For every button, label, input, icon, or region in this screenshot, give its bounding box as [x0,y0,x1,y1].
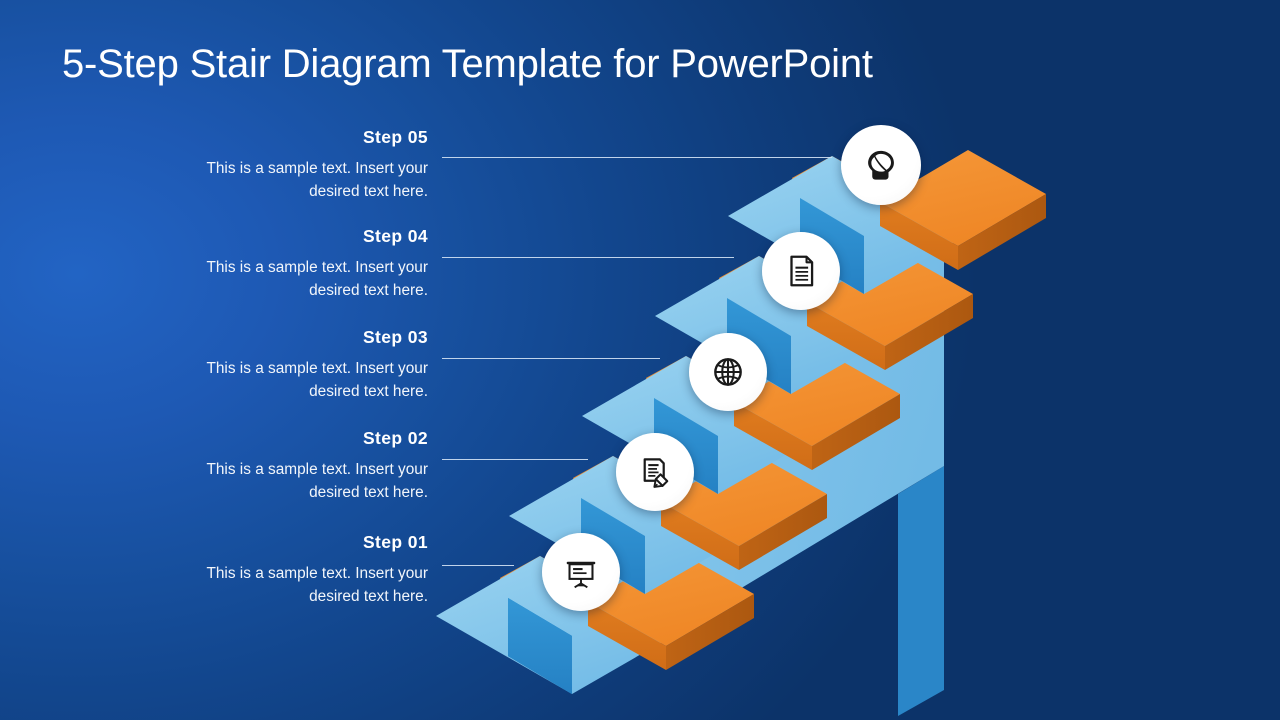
step-label-04: Step 04 [176,226,428,247]
step-icon-badge-02[interactable] [616,433,694,511]
step-icon-badge-04[interactable] [762,232,840,310]
step-label-03: Step 03 [176,327,428,348]
connector-line-02 [442,459,588,460]
step-body-01: This is a sample text. Insert your desir… [176,562,428,608]
connector-line-04 [442,257,734,258]
step-text-03: Step 03 This is a sample text. Insert yo… [176,327,428,403]
slide-canvas: 5-Step Stair Diagram Template for PowerP… [0,0,1280,720]
step-label-01: Step 01 [176,532,428,553]
step-body-03: This is a sample text. Insert your desir… [176,357,428,403]
step-icon-badge-01[interactable] [542,533,620,611]
step-label-02: Step 02 [176,428,428,449]
step-icon-badge-03[interactable] [689,333,767,411]
step-body-02: This is a sample text. Insert your desir… [176,458,428,504]
step-label-05: Step 05 [176,127,428,148]
step-text-01: Step 01 This is a sample text. Insert yo… [176,532,428,608]
document-icon [782,252,820,290]
step-body-04: This is a sample text. Insert your desir… [176,256,428,302]
step-icon-badge-05[interactable] [841,125,921,205]
connector-line-03 [442,358,660,359]
step-text-05: Step 05 This is a sample text. Insert yo… [176,127,428,203]
step-text-02: Step 02 This is a sample text. Insert yo… [176,428,428,504]
connector-line-05 [442,157,832,158]
connector-line-01 [442,565,514,566]
head-brain-icon [861,145,901,185]
document-pencil-icon [636,453,674,491]
step-body-05: This is a sample text. Insert your desir… [176,157,428,203]
presentation-board-icon [562,553,600,591]
globe-icon [709,353,747,391]
step-text-04: Step 04 This is a sample text. Insert yo… [176,226,428,302]
